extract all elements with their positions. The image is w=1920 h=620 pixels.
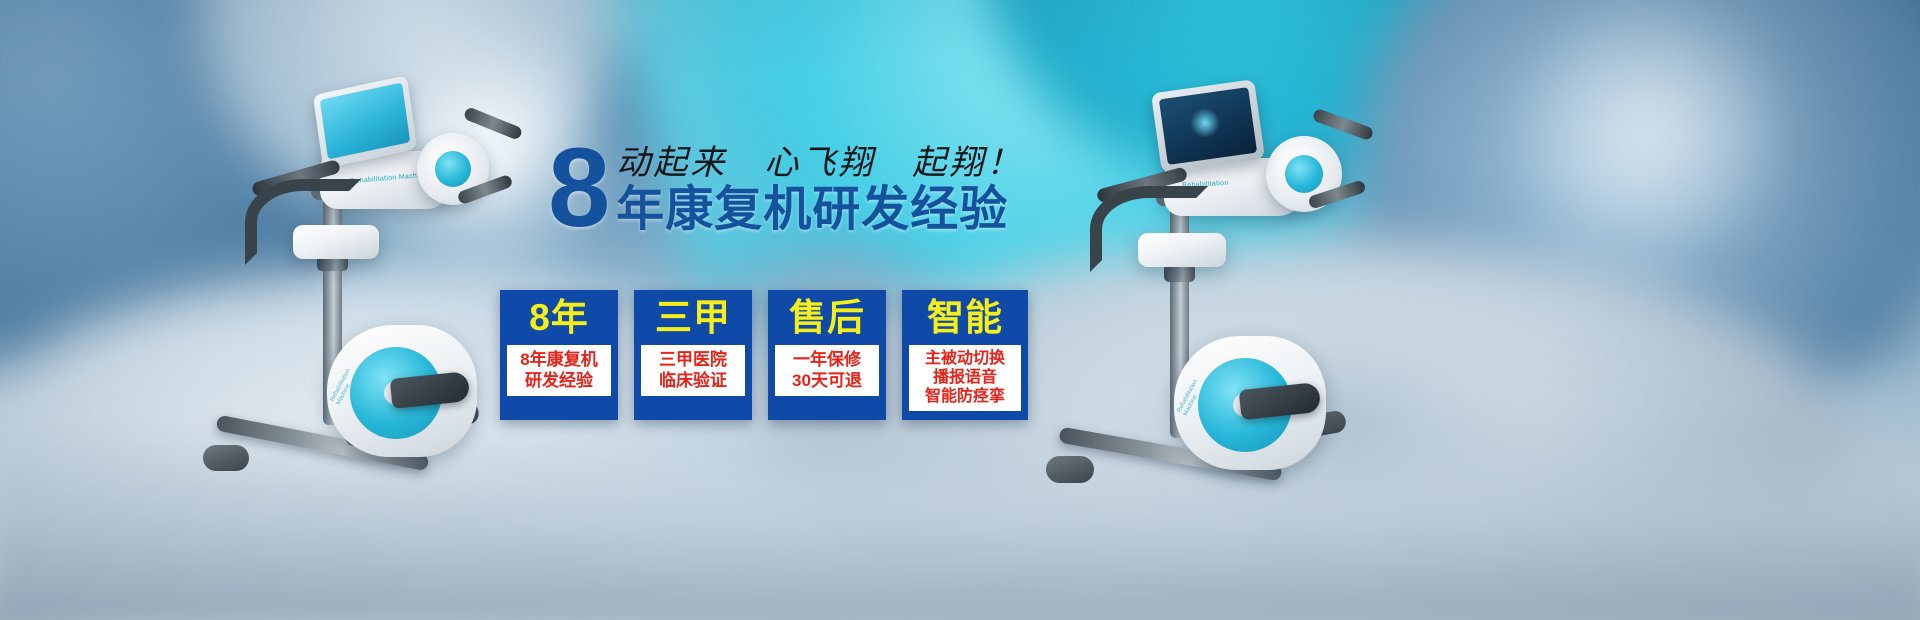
promo-banner: Rehabilitation Machine Rehabilitation Ma… [0,0,1920,620]
bike-armrest-tray [293,225,379,259]
feature-card-after-sales[interactable]: 售后 一年保修 30天可退 [768,290,886,420]
feature-card-years[interactable]: 8年 8年康复机 研发经验 [500,290,618,420]
feature-card-title: 三甲 [655,294,731,342]
headline-main: 年康复机研发经验 [616,182,1023,238]
feature-card-body: 三甲医院 临床验证 [641,345,745,396]
feature-card-title: 智能 [927,294,1003,342]
feature-card-line: 8年康复机 [507,349,611,370]
bike-armrest-tray-r [1138,233,1226,267]
feature-card-body: 一年保修 30天可退 [775,345,879,396]
bike-foot-left-r [1046,456,1094,483]
feature-card-body: 8年康复机 研发经验 [507,345,611,396]
bike-arm-handle-upper-r [1312,108,1375,141]
headline-number: 8 [548,140,608,236]
bike-foot-left [203,445,249,471]
rehabilitation-bike-right: Rehabilitation Machine Rehabilitation [1040,78,1380,508]
feature-card-smart[interactable]: 智能 主被动切换 播报语音 智能防痉挛 [902,290,1028,420]
feature-card-line: 临床验证 [641,370,745,391]
headline-block: 8 动起来 心飞翔 起翔！ 年康复机研发经验 [548,140,1068,238]
feature-card-hospital[interactable]: 三甲 三甲医院 临床验证 [634,290,752,420]
feature-card-line: 三甲医院 [641,349,745,370]
feature-card-line: 智能防痉挛 [909,387,1021,406]
feature-card-body: 主被动切换 播报语音 智能防痉挛 [909,345,1021,411]
feature-card-list: 8年 8年康复机 研发经验 三甲 三甲医院 临床验证 售后 一年保修 30天可退… [500,290,1028,420]
headline-text-group: 动起来 心飞翔 起翔！ 年康复机研发经验 [616,140,1023,238]
feature-card-line: 研发经验 [507,370,611,391]
headline-row: 8 动起来 心飞翔 起翔！ 年康复机研发经验 [548,140,1068,238]
feature-card-line: 一年保修 [775,349,879,370]
feature-card-line: 主被动切换 [909,349,1021,368]
bike-arm-crank-center [435,151,471,187]
bike-arm-crank-center-r [1285,155,1323,193]
feature-card-line: 播报语音 [909,368,1021,387]
bike-arm-handle-upper [463,106,524,141]
feature-card-line: 30天可退 [775,370,879,391]
rehabilitation-bike-left: Rehabilitation Machine Rehabilitation Ma… [195,75,525,505]
feature-card-title: 售后 [789,294,865,342]
feature-card-title: 8年 [529,294,589,342]
headline-subtitle: 动起来 心飞翔 起翔！ [616,144,1023,182]
